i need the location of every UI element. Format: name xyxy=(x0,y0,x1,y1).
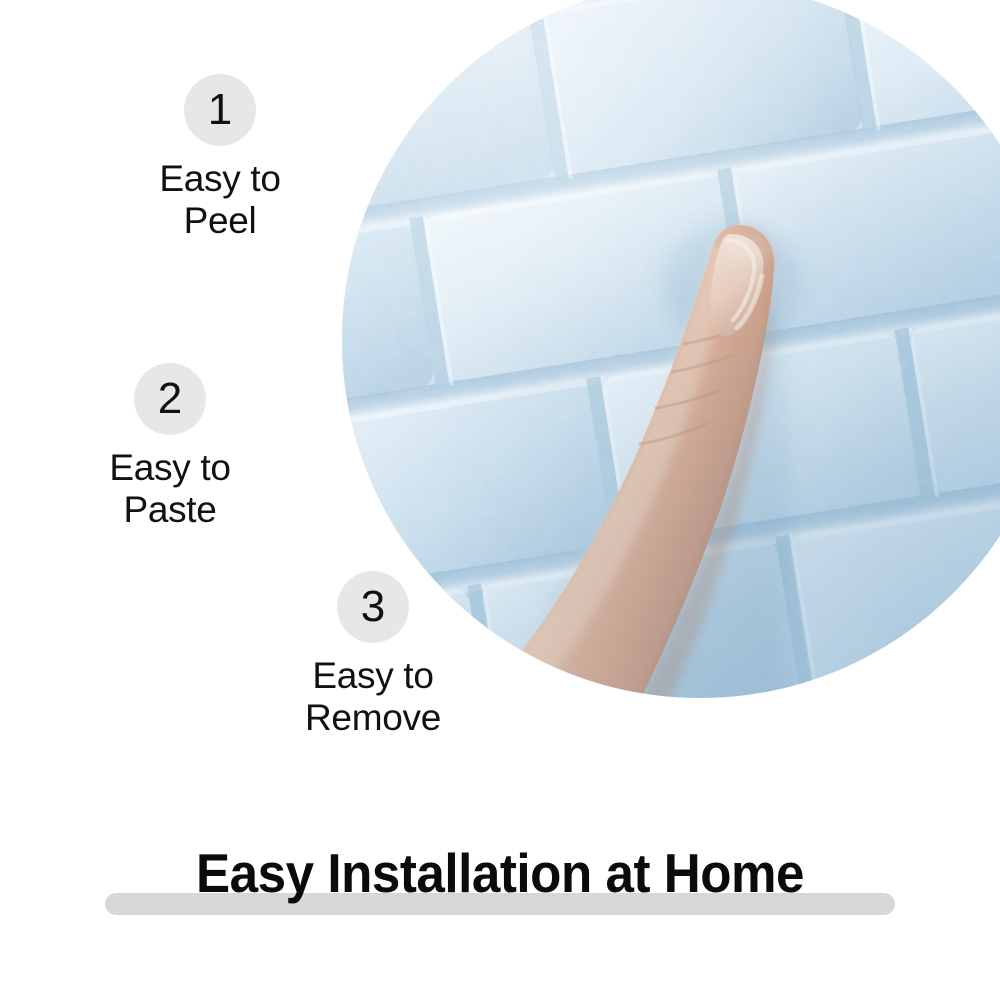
step-label-2: Easy to Paste xyxy=(40,447,300,531)
headline-block: Easy Installation at Home xyxy=(0,846,1000,924)
step-label-3: Easy to Remove xyxy=(243,655,503,739)
step-item-2: 2 Easy to Paste xyxy=(40,363,300,531)
step-item-3: 3 Easy to Remove xyxy=(243,571,503,739)
headline-title: Easy Installation at Home xyxy=(35,846,965,901)
step-number-badge-1: 1 xyxy=(184,74,256,146)
step-number-badge-3: 3 xyxy=(337,571,409,643)
step-item-1: 1 Easy to Peel xyxy=(90,74,350,242)
infographic-canvas: 1 Easy to Peel 2 Easy to Paste 3 Easy to… xyxy=(0,0,1000,1000)
step-label-1: Easy to Peel xyxy=(90,158,350,242)
step-number-badge-2: 2 xyxy=(134,363,206,435)
